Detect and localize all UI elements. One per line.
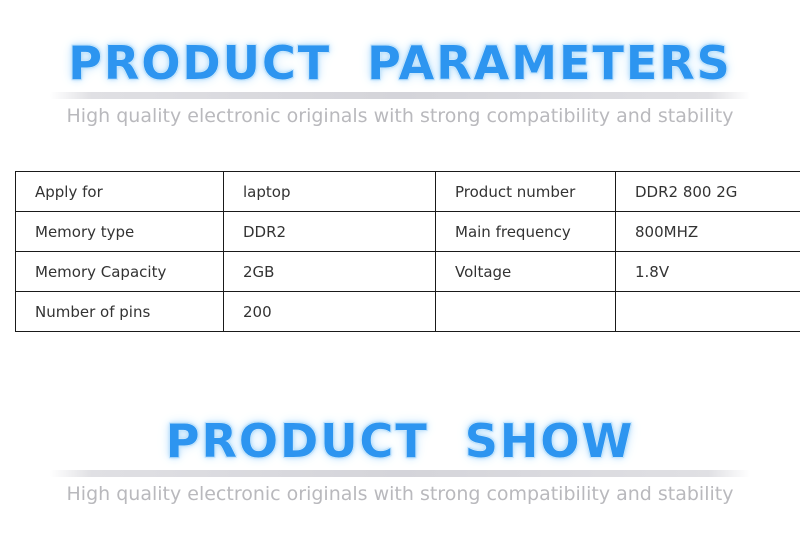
spec-key: Number of pins: [16, 292, 224, 332]
spec-value: DDR2 800 2G: [616, 172, 800, 212]
table-row: Apply for laptop Product number DDR2 800…: [16, 172, 800, 212]
spec-key: Product number: [436, 172, 616, 212]
table-row: Number of pins 200: [16, 292, 800, 332]
page-subtitle-show: High quality electronic originals with s…: [0, 481, 800, 507]
spec-value: 800MHZ: [616, 212, 800, 252]
spec-key: Voltage: [436, 252, 616, 292]
spec-key: Memory type: [16, 212, 224, 252]
spec-key: Apply for: [16, 172, 224, 212]
section-header-show: PRODUCT SHOW High quality electronic ori…: [0, 416, 800, 507]
spec-value: DDR2: [224, 212, 436, 252]
spec-value: laptop: [224, 172, 436, 212]
spec-value: 2GB: [224, 252, 436, 292]
specification-table: Apply for laptop Product number DDR2 800…: [15, 171, 800, 332]
product-detail-page: PRODUCT PARAMETERS High quality electron…: [0, 0, 800, 558]
section-header-parameters: PRODUCT PARAMETERS High quality electron…: [0, 38, 800, 129]
title-divider-parameters: [50, 92, 750, 99]
spec-value-empty: [616, 292, 800, 332]
spec-key: Main frequency: [436, 212, 616, 252]
page-subtitle-parameters: High quality electronic originals with s…: [0, 103, 800, 129]
spec-key: Memory Capacity: [16, 252, 224, 292]
page-title-show: PRODUCT SHOW: [0, 416, 800, 466]
table-row: Memory Capacity 2GB Voltage 1.8V: [16, 252, 800, 292]
title-divider-show: [50, 470, 750, 477]
spec-key-empty: [436, 292, 616, 332]
page-title-parameters: PRODUCT PARAMETERS: [0, 38, 800, 88]
spec-value: 1.8V: [616, 252, 800, 292]
spec-value: 200: [224, 292, 436, 332]
table-row: Memory type DDR2 Main frequency 800MHZ: [16, 212, 800, 252]
specification-table-body: Apply for laptop Product number DDR2 800…: [16, 172, 800, 332]
